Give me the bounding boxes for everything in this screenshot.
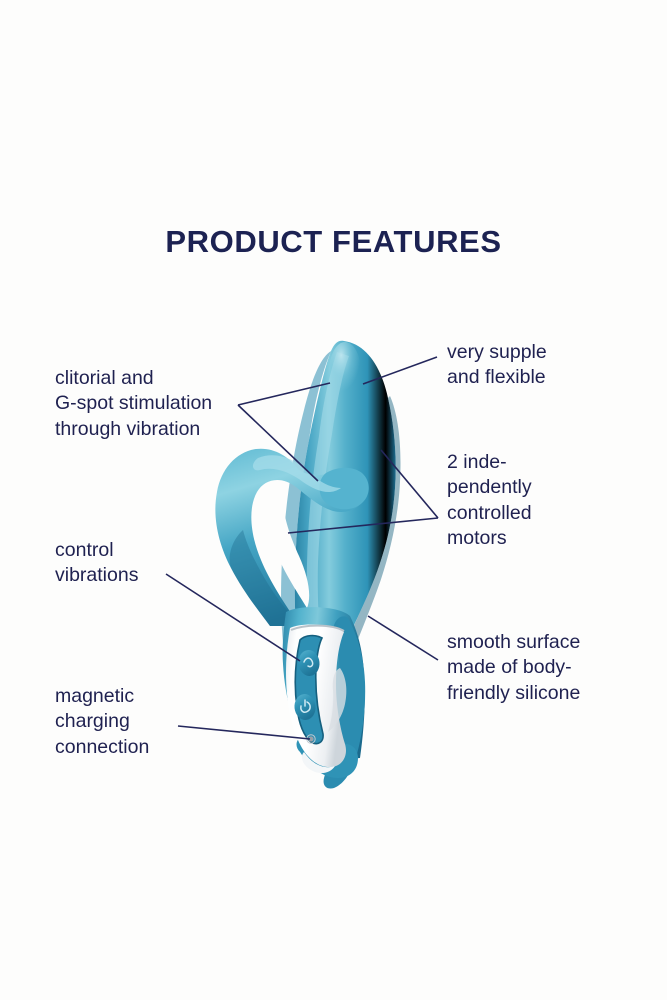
button-recess <box>295 636 323 744</box>
product-features-page: PRODUCT FEATURES <box>0 0 667 1000</box>
shaft-inner-curve <box>281 351 331 668</box>
shaft-shadow-edge <box>338 396 401 664</box>
clitoral-arm-highlight <box>253 455 341 492</box>
button-recess-rim <box>295 636 323 744</box>
main-shaft <box>295 341 396 668</box>
callout-clitorial-and-gspot: clitorial and G-spot stimulation through… <box>55 366 255 442</box>
magnetic-contact-ring <box>307 735 315 743</box>
handle-foot <box>297 736 358 778</box>
callout-very-supple-and-flexible: very supple and flexible <box>447 340 632 391</box>
callout-smooth-surface-silicone: smooth surface made of body- friendly si… <box>447 630 642 706</box>
page-title: PRODUCT FEATURES <box>0 224 667 260</box>
arm-loop-opening <box>269 497 309 608</box>
leader-smooth <box>368 616 438 660</box>
clitoral-arm-tip <box>319 468 368 510</box>
shaft-highlight <box>307 352 349 662</box>
leader-supple <box>363 357 437 384</box>
handle-shaft <box>283 607 365 762</box>
panel-bottom-tip <box>302 752 335 773</box>
clitoral-arm-shadow <box>230 530 300 626</box>
clitoral-arm <box>215 449 366 626</box>
control-panel-notch <box>328 668 346 732</box>
handle-right-band <box>324 616 366 788</box>
vibration-button <box>297 649 321 677</box>
power-icon <box>301 702 310 712</box>
leader-motors-lower <box>288 518 438 533</box>
wave-icon <box>304 658 313 667</box>
callout-two-independently-controlled-motors: 2 inde- pendently controlled motors <box>447 450 607 551</box>
callout-control-vibrations: control vibrations <box>55 538 225 589</box>
power-button <box>293 693 317 721</box>
panel-top-seam <box>291 626 344 631</box>
shaft-tip-highlight <box>329 342 361 402</box>
control-panel <box>286 625 346 768</box>
callout-magnetic-charging: magnetic charging connection <box>55 684 220 760</box>
leader-motors-upper <box>381 450 438 518</box>
magnetic-contact-dot <box>308 736 313 741</box>
